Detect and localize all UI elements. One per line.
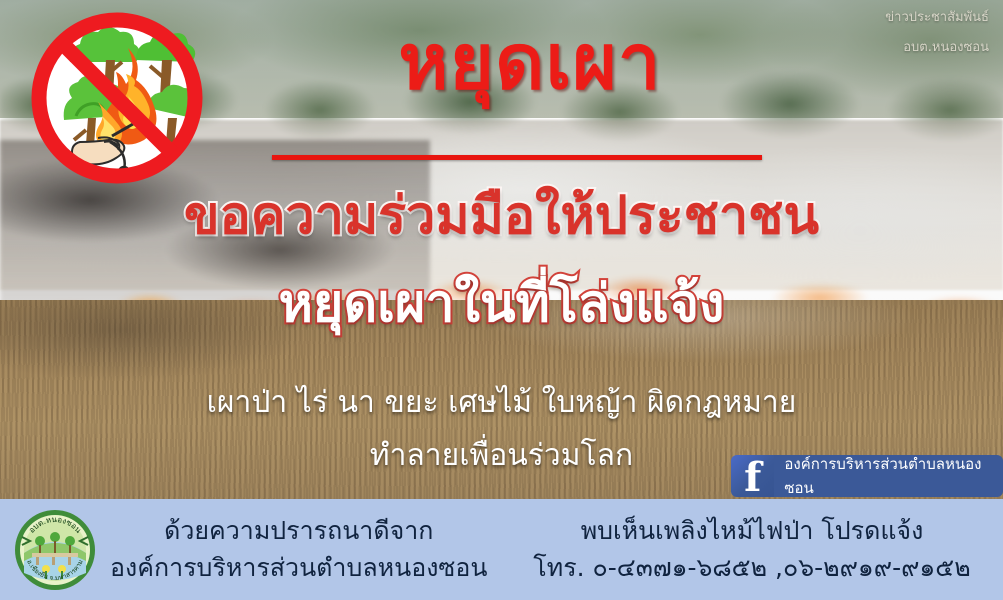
corner-header: ข่าวประชาสัมพันธ์ อบต.หนองซอน: [885, 8, 989, 57]
footer-bar: อบต.หนองซอน อ.เชียงยืน จ.มหาสารคาม ด้วยค…: [0, 499, 1003, 600]
facebook-page-name: องค์การบริหารส่วนตำบลหนองซอน: [774, 455, 1003, 497]
poster-title: หยุดเผา: [320, 22, 740, 102]
footer-right-line2: โทร. ๐-๔๓๗๑-๖๘๕๒ ,๐๖-๒๙๑๙-๙๑๕๒: [501, 550, 1003, 586]
footer-left-line2: องค์การบริหารส่วนตำบลหนองซอน: [110, 550, 488, 586]
facebook-icon-glyph: f: [744, 459, 761, 497]
corner-header-line2: อบต.หนองซอน: [885, 38, 989, 58]
footer-left-text: ด้วยความปรารถนาดีจาก องค์การบริหารส่วนตำ…: [110, 513, 488, 586]
headline-line-b: หยุดเผาในที่โล่งแจ้ง: [0, 276, 1003, 333]
footer-left-line1: ด้วยความปรารถนาดีจาก: [110, 513, 488, 549]
public-announcement-poster: ข่าวประชาสัมพันธ์ อบต.หนองซอน หยุดเผา ขอ…: [0, 0, 1003, 600]
headline-line-a: ขอความร่วมมือให้ประชาชน: [0, 188, 1003, 245]
footer-left-section: อบต.หนองซอน อ.เชียงยืน จ.มหาสารคาม ด้วยค…: [0, 509, 501, 591]
municipality-seal-icon: อบต.หนองซอน อ.เชียงยืน จ.มหาสารคาม: [14, 509, 96, 591]
footer-right-line1: พบเห็นเพลิงไหม้ไฟป่า โปรดแจ้ง: [501, 513, 1003, 549]
facebook-icon: f: [731, 455, 774, 497]
red-divider-line: [272, 155, 762, 160]
no-burning-icon: [24, 12, 210, 184]
footer-right-section: พบเห็นเพลิงไหม้ไฟป่า โปรดแจ้ง โทร. ๐-๔๓๗…: [501, 513, 1003, 586]
corner-header-line1: ข่าวประชาสัมพันธ์: [885, 8, 989, 28]
facebook-badge[interactable]: f องค์การบริหารส่วนตำบลหนองซอน: [731, 455, 1003, 497]
subtext-line-a: เผาป่า ไร่ นา ขยะ เศษไม้ ใบหญ้า ผิดกฎหมา…: [0, 385, 1003, 421]
